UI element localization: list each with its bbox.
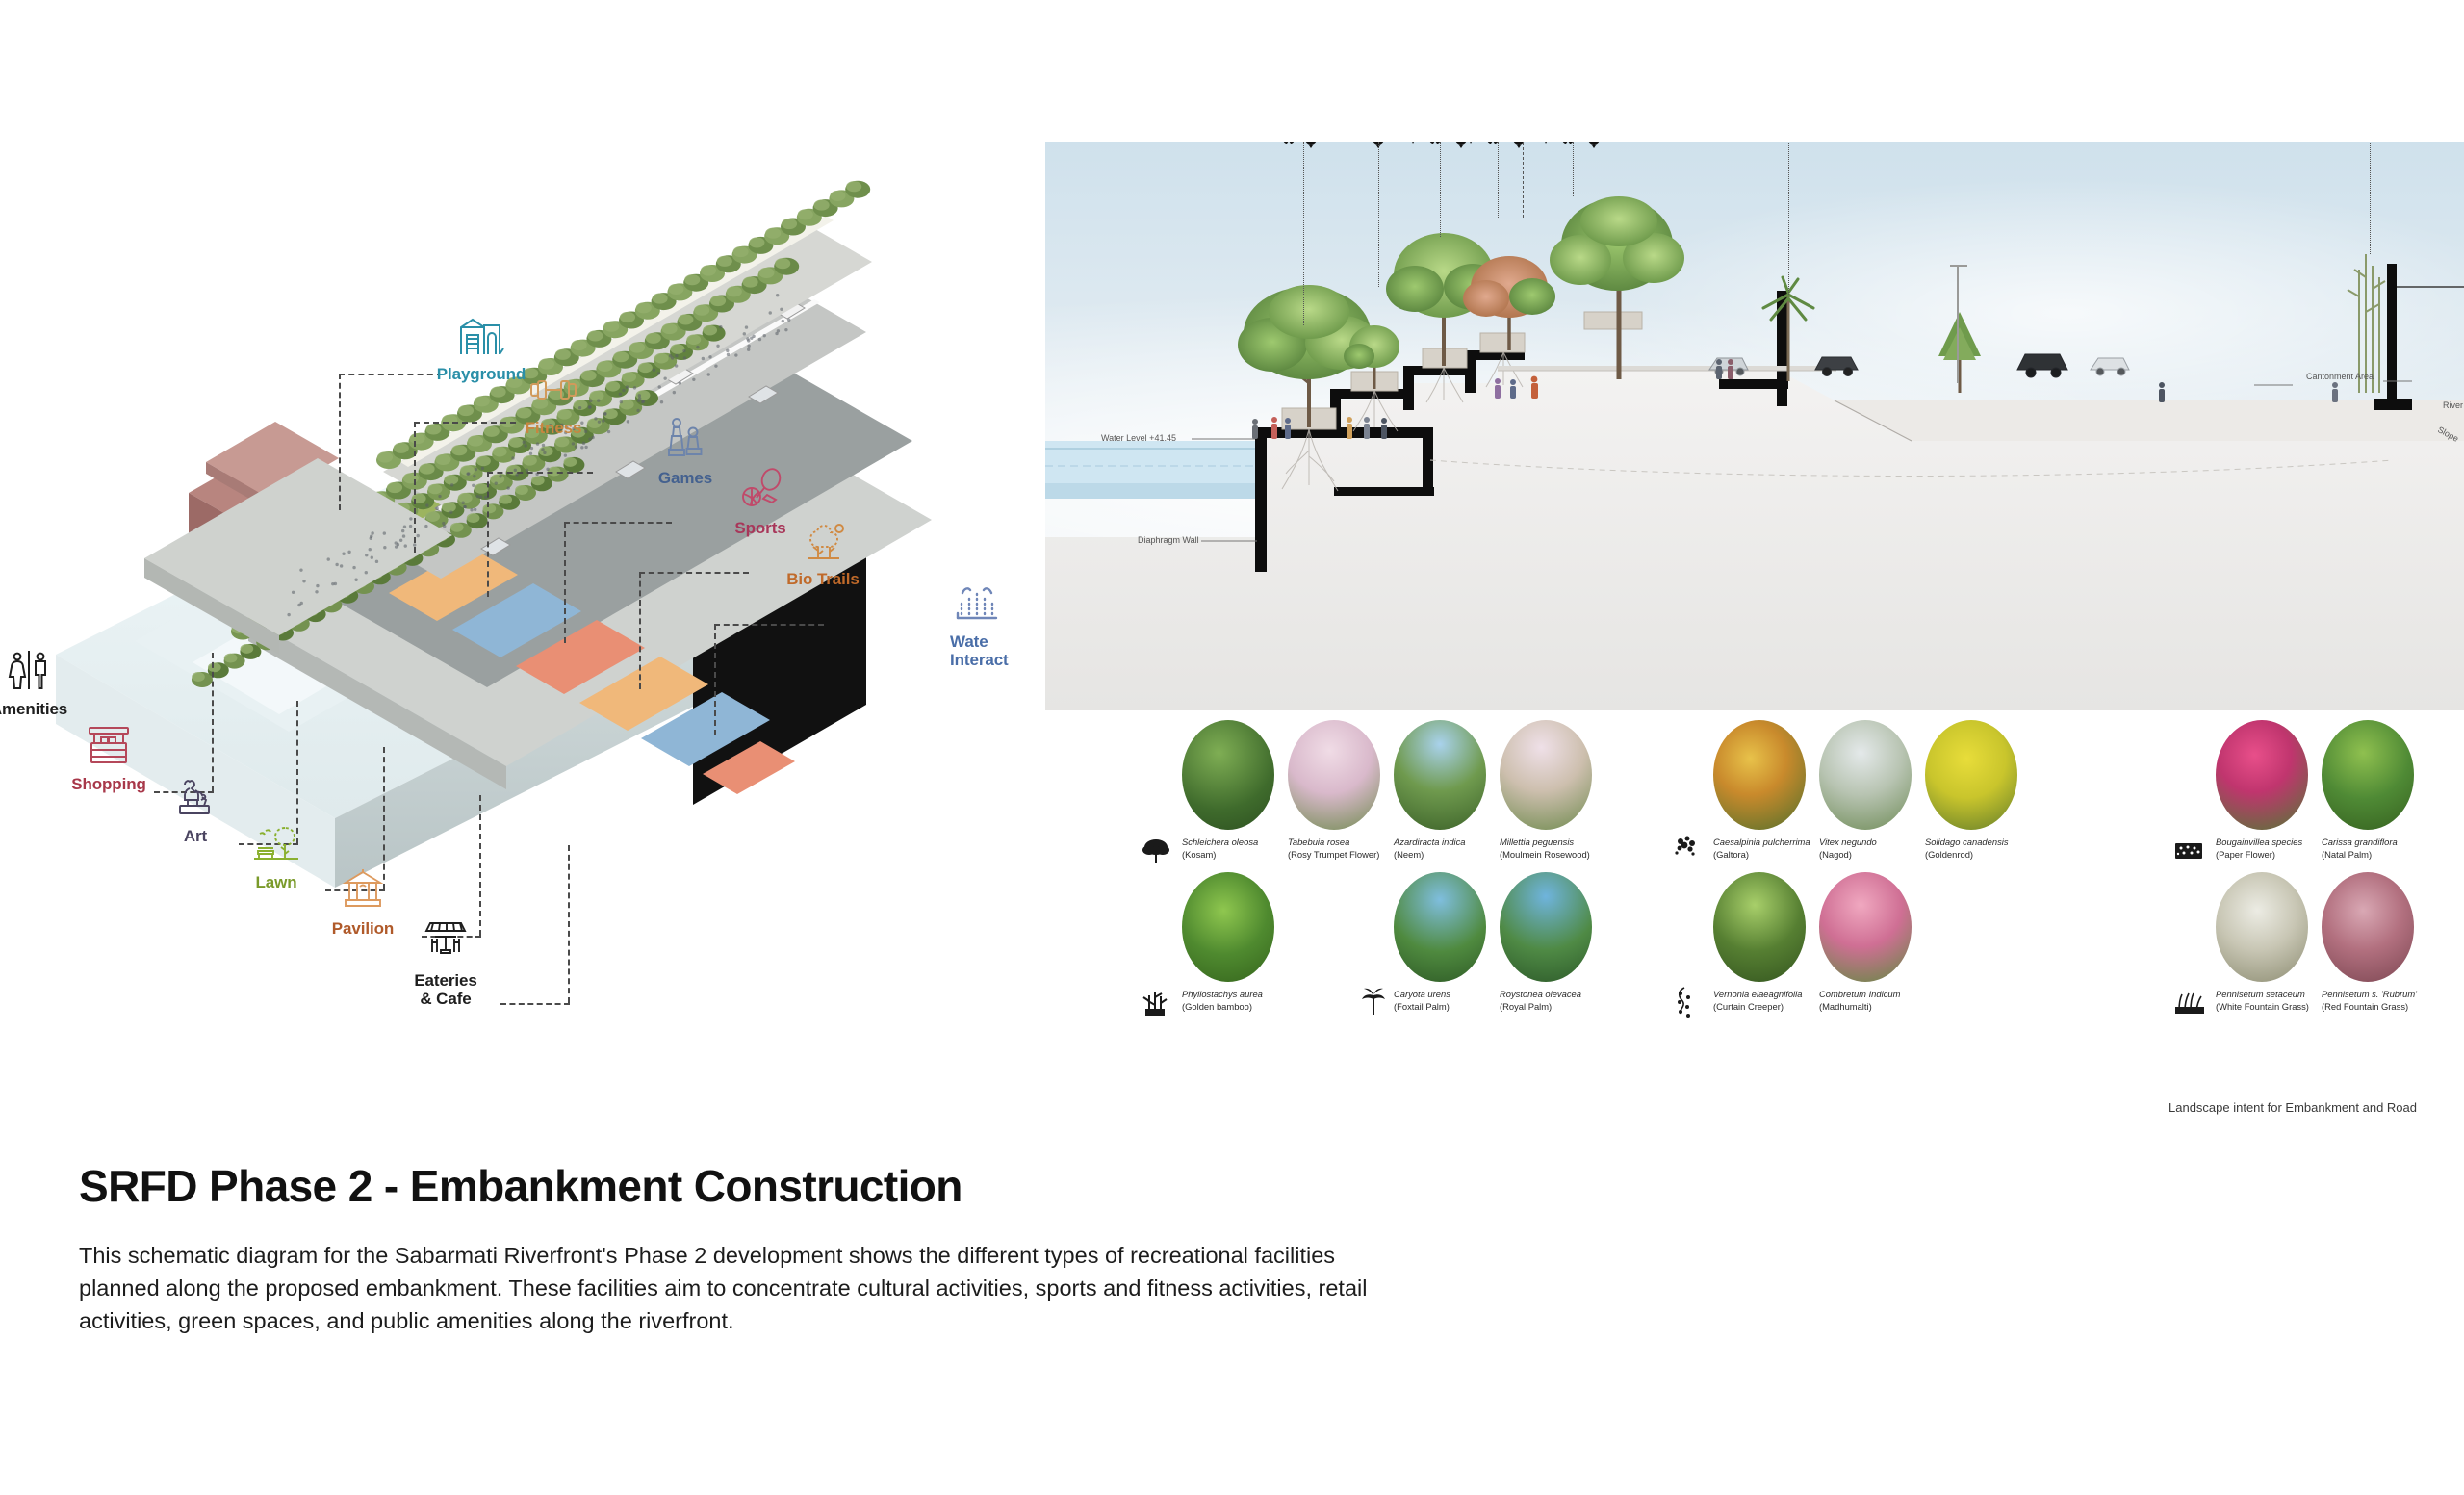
chess-icon [613, 414, 757, 466]
plant-sci-name: Vernonia elaeagnifolia [1713, 989, 1827, 1001]
plant-item[interactable]: Azardiracta indica(Neem) [1394, 720, 1507, 861]
page-title: SRFD Phase 2 - Embankment Construction [79, 1160, 1446, 1212]
plant-photo [1394, 720, 1486, 830]
plant-item[interactable]: Millettia peguensis(Moulmein Rosewood) [1500, 720, 1613, 861]
plant-common-name: (Kosam) [1182, 849, 1296, 862]
plant-common-name: (White Fountain Grass) [2216, 1001, 2329, 1014]
plant-photo [1288, 720, 1380, 830]
plant-sci-name: Bougainvillea species [2216, 837, 2329, 849]
title-block: SRFD Phase 2 - Embankment Construction T… [79, 1160, 1446, 1337]
tree-group-icon [1142, 838, 1170, 866]
veg-leader-1 [1303, 142, 1304, 325]
plant-sci-name: Solidago canadensis [1925, 837, 2039, 849]
grass-group-icon [2173, 988, 2202, 1017]
plant-sci-name: Tabebuia rosea [1288, 837, 1401, 849]
fountain-icon [929, 578, 1050, 630]
plant-photo [2322, 872, 2414, 982]
plant-common-name: (Rosy Trumpet Flower) [1288, 849, 1401, 862]
plant-common-name: (Foxtail Palm) [1394, 1001, 1507, 1014]
palm-group-icon [1359, 986, 1388, 1015]
page-root: Playground Fitness [0, 0, 2464, 1495]
plant-sci-name: Phyllostachys aurea [1182, 989, 1296, 1001]
iso-label-amenities[interactable]: Amenities [0, 645, 101, 718]
plant-sci-name: Pennisetum setaceum [2216, 989, 2329, 1001]
plant-common-name: (Goldenrod) [1925, 849, 2039, 862]
iso-label-fitness-text: Fitness [481, 419, 626, 437]
plant-sci-name: Vitex negundo [1819, 837, 1933, 849]
bamboo-group-icon [1140, 988, 1168, 1017]
plant-item[interactable]: Phyllostachys aurea(Golden bamboo) [1182, 872, 1296, 1013]
trees-icon [751, 515, 895, 567]
shrub-group-icon [1671, 834, 1700, 863]
leader-biotrails-h [639, 572, 749, 574]
restroom-icon [0, 645, 101, 697]
iso-label-water-interaction[interactable]: Wate Interact [929, 578, 1050, 669]
climber-group-icon [1673, 986, 1702, 1015]
leader-games-h [487, 472, 593, 474]
plant-photo [2216, 872, 2308, 982]
plant-common-name: (Royal Palm) [1500, 1001, 1613, 1014]
hedge-group-icon [2173, 838, 2202, 866]
leader-sports-h [564, 522, 672, 524]
leader-pavilion-v [479, 795, 481, 936]
plant-sci-name: Roystonea olevacea [1500, 989, 1613, 1001]
plant-photo [1182, 720, 1274, 830]
veg-leader-7 [2370, 142, 2371, 254]
plant-photo [2322, 720, 2414, 830]
annotation-river: River [2443, 400, 2463, 410]
leader-eateries-v [568, 845, 570, 1003]
plant-common-name: (Natal Palm) [2322, 849, 2435, 862]
plant-photo [1182, 872, 1274, 982]
dumbbell-icon [481, 364, 626, 416]
sports-icon [688, 464, 833, 516]
plant-common-name: (Nagod) [1819, 849, 1933, 862]
iso-label-fitness[interactable]: Fitness [481, 364, 626, 437]
veg-leader-2 [1378, 142, 1379, 287]
plant-item[interactable]: Schleichera oleosa(Kosam) [1182, 720, 1296, 861]
plant-item[interactable]: Caesalpinia pulcherrima(Galtora) [1713, 720, 1827, 861]
plant-common-name: (Paper Flower) [2216, 849, 2329, 862]
cafe-icon [373, 916, 518, 968]
annotation-cantonment-area: Cantonment Area [2297, 372, 2383, 382]
iso-label-amenities-text: Amenities [0, 700, 101, 718]
section-tree-tall [1550, 196, 1684, 379]
veg-leader-3 [1440, 142, 1441, 237]
leader-shopping-v [212, 653, 214, 791]
plant-item[interactable]: Vitex negundo(Nagod) [1819, 720, 1933, 861]
sculpture-icon [123, 772, 268, 824]
playground-icon [409, 310, 553, 362]
plant-item[interactable]: Carissa grandiflora(Natal Palm) [2322, 720, 2435, 861]
leader-water-v [714, 624, 716, 735]
section-geometry [1045, 142, 2464, 710]
plant-item[interactable]: Roystonea olevacea(Royal Palm) [1500, 872, 1613, 1013]
iso-label-bio-trails-text: Bio Trails [751, 570, 895, 588]
plant-item[interactable]: Solidago canadensis(Goldenrod) [1925, 720, 2039, 861]
gallery-caption: Landscape intent for Embankment and Road [2169, 1100, 2417, 1115]
plant-common-name: (Neem) [1394, 849, 1507, 862]
plant-photo [2216, 720, 2308, 830]
plant-photo [1500, 872, 1592, 982]
plant-sci-name: Caesalpinia pulcherrima [1713, 837, 1827, 849]
plant-item[interactable]: Bougainvillea species(Paper Flower) [2216, 720, 2329, 861]
plant-photo [1394, 872, 1486, 982]
section-drawing: Trees and Shrubs Climbers Trees Shrubs a… [1045, 142, 2464, 710]
plant-photo [1925, 720, 2017, 830]
plant-common-name: (Red Fountain Grass) [2322, 1001, 2435, 1014]
leader-fitness-v [414, 422, 416, 553]
isometric-diagram: Playground Fitness [0, 58, 1049, 1107]
pavilion-icon [291, 864, 435, 916]
plant-item[interactable]: Vernonia elaeagnifolia(Curtain Creeper) [1713, 872, 1827, 1013]
iso-label-water-interaction-text: Wate Interact [929, 632, 1050, 669]
plant-common-name: (Madhumalti) [1819, 1001, 1933, 1014]
bench-tree-icon [204, 818, 348, 870]
plant-gallery: Schleichera oleosa(Kosam) Tabebuia rosea… [1145, 720, 2464, 1078]
plant-common-name: (Moulmein Rosewood) [1500, 849, 1613, 862]
annotation-diaphragm-wall: Diaphragm Wall [1138, 535, 1199, 545]
annotation-water-level: Water Level +41.45 [1101, 433, 1176, 443]
kiosk-icon [37, 720, 181, 772]
leader-water-h [714, 624, 824, 626]
iso-label-eateries-cafe-text: Eateries & Cafe [373, 971, 518, 1008]
leader-sports-v [564, 522, 566, 643]
page-description: This schematic diagram for the Sabarmati… [79, 1239, 1373, 1337]
plant-common-name: (Curtain Creeper) [1713, 1001, 1827, 1014]
plant-item[interactable]: Pennisetum s. 'Rubrum'(Red Fountain Gras… [2322, 872, 2435, 1013]
plant-sci-name: Schleichera oleosa [1182, 837, 1296, 849]
plant-sci-name: Carissa grandiflora [2322, 837, 2435, 849]
veg-leader-6 [1788, 142, 1789, 295]
plant-sci-name: Caryota urens [1394, 989, 1507, 1001]
plant-photo [1819, 872, 1912, 982]
section-tree-conical [1938, 312, 1981, 393]
plant-sci-name: Millettia peguensis [1500, 837, 1613, 849]
section-tree-flowering [1463, 256, 1555, 350]
plant-item[interactable]: Pennisetum setaceum(White Fountain Grass… [2216, 872, 2329, 1013]
plant-sci-name: Combretum Indicum [1819, 989, 1933, 1001]
plant-sci-name: Azardiracta indica [1394, 837, 1507, 849]
leader-playground-v [339, 374, 341, 510]
plant-item[interactable]: Tabebuia rosea(Rosy Trumpet Flower) [1288, 720, 1401, 861]
plant-photo [1713, 872, 1806, 982]
plant-item[interactable]: Caryota urens(Foxtail Palm) [1394, 872, 1507, 1013]
plant-common-name: (Galtora) [1713, 849, 1827, 862]
plant-photo [1819, 720, 1912, 830]
leader-games-v [487, 472, 489, 597]
plant-sci-name: Pennisetum s. 'Rubrum' [2322, 989, 2435, 1001]
plant-item[interactable]: Combretum Indicum(Madhumalti) [1819, 872, 1933, 1013]
iso-label-bio-trails[interactable]: Bio Trails [751, 515, 895, 588]
plant-common-name: (Golden bamboo) [1182, 1001, 1296, 1014]
veg-leader-5 [1573, 142, 1574, 196]
leader-biotrails-v [639, 572, 641, 689]
iso-label-eateries-cafe[interactable]: Eateries & Cafe [373, 916, 518, 1008]
veg-leader-4b [1523, 142, 1524, 218]
plant-photo [1713, 720, 1806, 830]
plant-photo [1500, 720, 1592, 830]
veg-leader-4 [1498, 142, 1499, 219]
